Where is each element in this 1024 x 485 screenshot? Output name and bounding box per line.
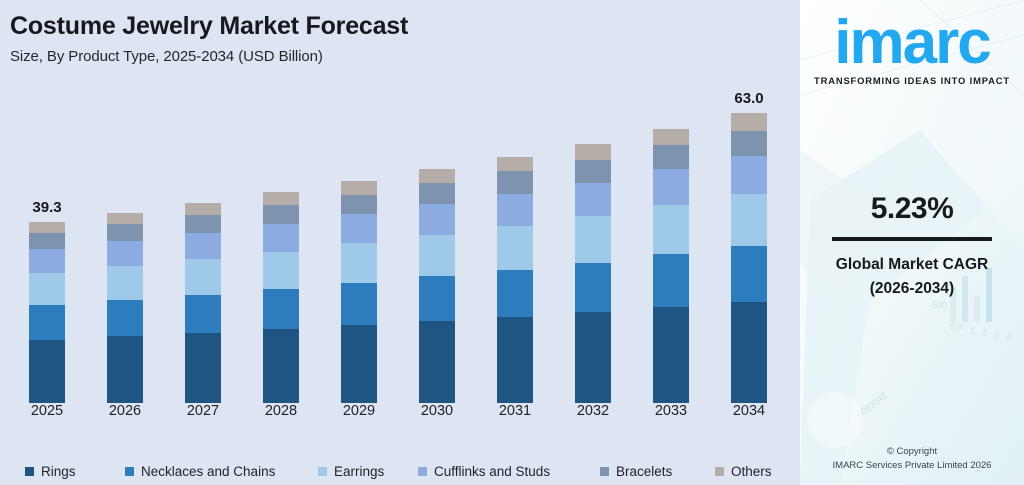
bar-value-label-2034: 63.0 — [734, 90, 763, 108]
bar-segment-necklaces-and-chains-2031[interactable] — [497, 270, 533, 317]
legend-label: Necklaces and Chains — [141, 464, 275, 479]
legend-item-necklaces-and-chains[interactable]: Necklaces and Chains — [125, 464, 275, 479]
legend-swatch-icon — [25, 467, 34, 476]
legend-swatch-icon — [418, 467, 427, 476]
bar-segment-earrings-2033[interactable] — [653, 205, 689, 254]
x-axis-tick-2028: 2028 — [242, 403, 320, 419]
legend-item-cufflinks-and-studs[interactable]: Cufflinks and Studs — [418, 464, 550, 479]
stacked-bar-2032[interactable] — [575, 144, 611, 403]
bar-segment-others-2031[interactable] — [497, 157, 533, 172]
x-axis-tick-2025: 2025 — [8, 403, 86, 419]
bar-group-2025[interactable]: 39.3 — [8, 88, 86, 403]
stacked-bar-2033[interactable] — [653, 129, 689, 403]
bar-segment-necklaces-and-chains-2025[interactable] — [29, 305, 65, 340]
cagr-caption-line1: Global Market CAGR — [800, 253, 1024, 277]
brand-panel: 500 0.0 1 2 3 4 0082048 imarc TRANSFORMI… — [800, 0, 1024, 485]
bar-segment-cufflinks-and-studs-2029[interactable] — [341, 214, 377, 243]
cagr-block: 5.23% Global Market CAGR (2026-2034) — [800, 192, 1024, 301]
bar-group-2033[interactable]: 59.6 — [632, 88, 710, 403]
bar-segment-bracelets-2029[interactable] — [341, 195, 377, 215]
bar-segment-bracelets-2025[interactable] — [29, 233, 65, 249]
bar-segment-cufflinks-and-studs-2032[interactable] — [575, 183, 611, 217]
x-axis-tick-2032: 2032 — [554, 403, 632, 419]
copyright-line-2: IMARC Services Private Limited 2026 — [800, 459, 1024, 473]
bar-group-2026[interactable]: 41.3 — [86, 88, 164, 403]
stacked-bar-2027[interactable] — [185, 203, 221, 403]
bar-segment-bracelets-2033[interactable] — [653, 145, 689, 169]
bar-segment-others-2032[interactable] — [575, 144, 611, 160]
bar-value-label-2025: 39.3 — [32, 199, 61, 217]
page-title: Costume Jewelry Market Forecast — [10, 12, 408, 41]
bar-segment-earrings-2027[interactable] — [185, 259, 221, 295]
bar-segment-bracelets-2031[interactable] — [497, 171, 533, 193]
bar-segment-bracelets-2032[interactable] — [575, 160, 611, 183]
bar-group-2034[interactable]: 63.0 — [710, 88, 788, 403]
bar-segment-rings-2028[interactable] — [263, 329, 299, 403]
bar-segment-necklaces-and-chains-2030[interactable] — [419, 276, 455, 321]
bar-segment-earrings-2032[interactable] — [575, 216, 611, 262]
bar-segment-others-2029[interactable] — [341, 181, 377, 194]
bar-segment-others-2028[interactable] — [263, 192, 299, 205]
legend-label: Others — [731, 464, 772, 479]
bar-segment-cufflinks-and-studs-2031[interactable] — [497, 194, 533, 226]
plot-area: 39.341.343.545.848.250.853.556.359.663.0 — [0, 88, 800, 403]
x-axis-tick-2031: 2031 — [476, 403, 554, 419]
page-subtitle: Size, By Product Type, 2025-2034 (USD Bi… — [10, 48, 408, 65]
legend-label: Rings — [41, 464, 76, 479]
copyright-line-1: © Copyright — [800, 445, 1024, 459]
bar-segment-earrings-2025[interactable] — [29, 273, 65, 306]
legend-item-bracelets[interactable]: Bracelets — [600, 464, 672, 479]
bar-segment-others-2026[interactable] — [107, 213, 143, 224]
stacked-bar-2034[interactable] — [731, 113, 767, 403]
bar-segment-cufflinks-and-studs-2026[interactable] — [107, 241, 143, 266]
cagr-divider — [832, 237, 992, 241]
bar-group-2029[interactable]: 48.2 — [320, 88, 398, 403]
legend-swatch-icon — [600, 467, 609, 476]
bar-segment-cufflinks-and-studs-2025[interactable] — [29, 249, 65, 272]
bar-segment-bracelets-2030[interactable] — [419, 183, 455, 204]
x-axis-tick-2033: 2033 — [632, 403, 710, 419]
bar-segment-bracelets-2034[interactable] — [731, 131, 767, 157]
bar-segment-rings-2029[interactable] — [341, 325, 377, 403]
bar-segment-cufflinks-and-studs-2027[interactable] — [185, 233, 221, 259]
copyright-notice: © Copyright IMARC Services Private Limit… — [800, 445, 1024, 474]
bar-group-2032[interactable]: 56.3 — [554, 88, 632, 403]
legend-item-others[interactable]: Others — [715, 464, 772, 479]
legend-swatch-icon — [318, 467, 327, 476]
bar-segment-rings-2027[interactable] — [185, 333, 221, 403]
bar-segment-rings-2032[interactable] — [575, 312, 611, 403]
bar-group-2030[interactable]: 50.8 — [398, 88, 476, 403]
chart-header: Costume Jewelry Market Forecast Size, By… — [10, 12, 408, 65]
logo-wordmark: imarc — [834, 14, 989, 73]
legend-item-earrings[interactable]: Earrings — [318, 464, 384, 479]
bar-segment-necklaces-and-chains-2033[interactable] — [653, 254, 689, 306]
bar-segment-others-2027[interactable] — [185, 203, 221, 215]
bar-segment-necklaces-and-chains-2027[interactable] — [185, 295, 221, 333]
bar-segment-rings-2030[interactable] — [419, 321, 455, 403]
x-axis-tick-2027: 2027 — [164, 403, 242, 419]
bar-segment-cufflinks-and-studs-2030[interactable] — [419, 204, 455, 234]
bar-segment-earrings-2034[interactable] — [731, 194, 767, 246]
stacked-bar-2026[interactable] — [107, 213, 143, 403]
bar-segment-bracelets-2028[interactable] — [263, 205, 299, 224]
legend-item-rings[interactable]: Rings — [25, 464, 76, 479]
bar-group-2031[interactable]: 53.5 — [476, 88, 554, 403]
x-axis: 2025202620272028202920302031203220332034 — [0, 403, 800, 429]
x-axis-tick-2030: 2030 — [398, 403, 476, 419]
bar-segment-cufflinks-and-studs-2034[interactable] — [731, 156, 767, 194]
bar-segment-necklaces-and-chains-2034[interactable] — [731, 246, 767, 302]
bar-segment-bracelets-2026[interactable] — [107, 224, 143, 241]
bar-segment-necklaces-and-chains-2028[interactable] — [263, 289, 299, 329]
bar-segment-rings-2034[interactable] — [731, 302, 767, 403]
bar-segment-rings-2025[interactable] — [29, 340, 65, 403]
bar-group-2027[interactable]: 43.5 — [164, 88, 242, 403]
bar-segment-others-2025[interactable] — [29, 222, 65, 233]
bar-segment-necklaces-and-chains-2032[interactable] — [575, 263, 611, 313]
stacked-bar-2030[interactable] — [419, 169, 455, 403]
imarc-logo: imarc TRANSFORMING IDEAS INTO IMPACT — [800, 14, 1024, 86]
bar-segment-rings-2026[interactable] — [107, 336, 143, 403]
bar-segment-rings-2033[interactable] — [653, 307, 689, 403]
legend-label: Earrings — [334, 464, 384, 479]
bar-segment-cufflinks-and-studs-2028[interactable] — [263, 224, 299, 252]
stacked-bar-2029[interactable] — [341, 181, 377, 403]
bar-segment-others-2033[interactable] — [653, 129, 689, 145]
bar-segment-earrings-2028[interactable] — [263, 252, 299, 290]
bar-segment-others-2034[interactable] — [731, 113, 767, 130]
cagr-value: 5.23% — [800, 192, 1024, 226]
bar-segment-necklaces-and-chains-2026[interactable] — [107, 300, 143, 336]
stacked-bar-2028[interactable] — [263, 192, 299, 403]
bar-segment-earrings-2031[interactable] — [497, 226, 533, 270]
legend-label: Bracelets — [616, 464, 672, 479]
x-axis-tick-2026: 2026 — [86, 403, 164, 419]
bar-segment-earrings-2029[interactable] — [341, 243, 377, 283]
cagr-caption-line2: (2026-2034) — [800, 277, 1024, 301]
bar-segment-necklaces-and-chains-2029[interactable] — [341, 283, 377, 325]
bar-segment-cufflinks-and-studs-2033[interactable] — [653, 169, 689, 205]
x-axis-tick-2034: 2034 — [710, 403, 788, 419]
chart-page: Costume Jewelry Market Forecast Size, By… — [0, 0, 1024, 485]
bar-group-2028[interactable]: 45.8 — [242, 88, 320, 403]
chart-panel: Costume Jewelry Market Forecast Size, By… — [0, 0, 800, 485]
bar-segment-others-2030[interactable] — [419, 169, 455, 183]
legend-label: Cufflinks and Studs — [434, 464, 550, 479]
bar-segment-earrings-2030[interactable] — [419, 235, 455, 277]
x-axis-tick-2029: 2029 — [320, 403, 398, 419]
legend-swatch-icon — [125, 467, 134, 476]
stacked-bar-2031[interactable] — [497, 157, 533, 403]
stacked-bar-2025[interactable] — [29, 222, 65, 403]
legend-swatch-icon — [715, 467, 724, 476]
bar-segment-bracelets-2027[interactable] — [185, 215, 221, 233]
bar-segment-rings-2031[interactable] — [497, 317, 533, 403]
bar-segment-earrings-2026[interactable] — [107, 266, 143, 300]
